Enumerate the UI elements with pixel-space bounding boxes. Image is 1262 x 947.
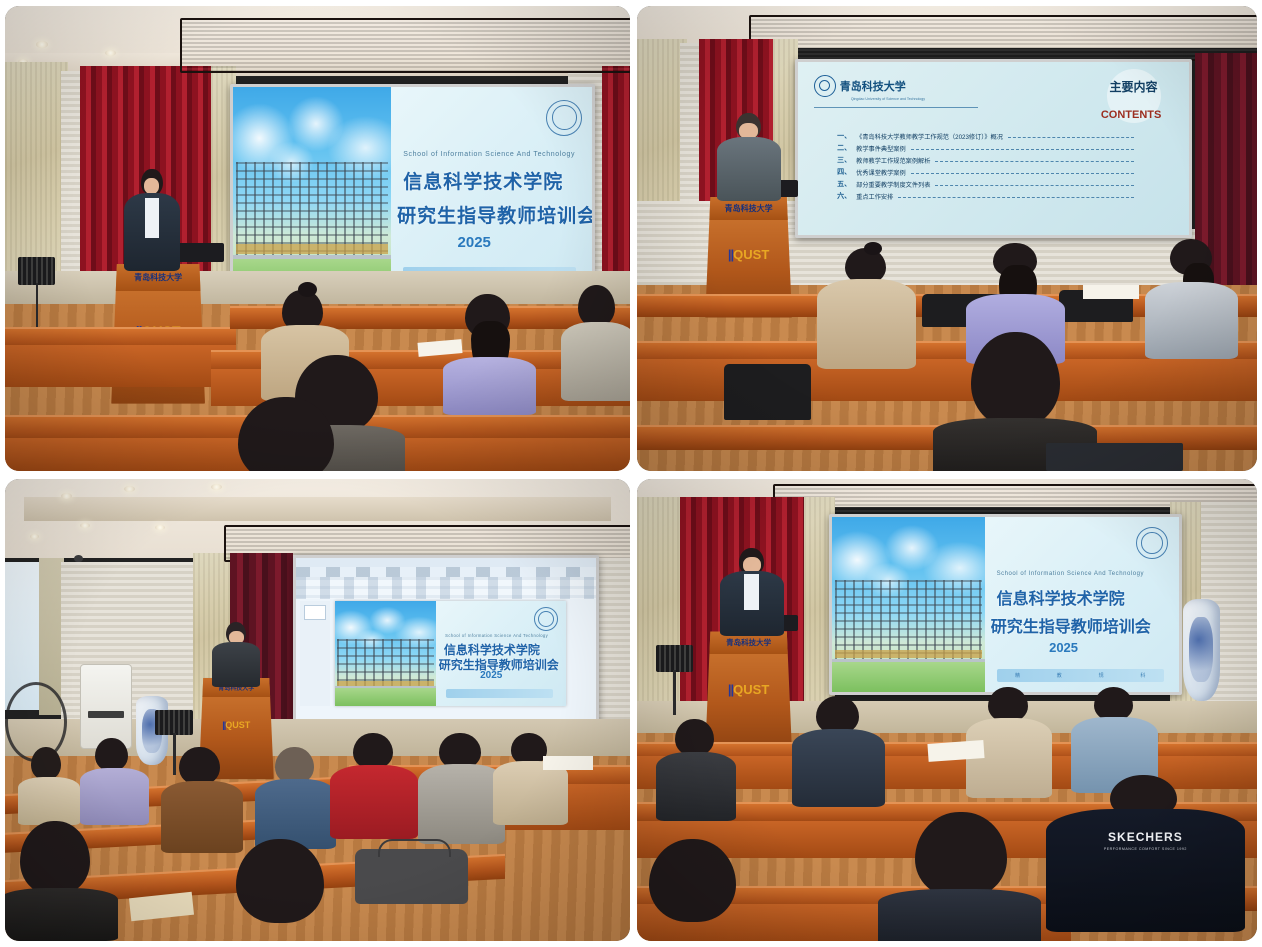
porcelain-vase — [1183, 599, 1220, 701]
torso-blue-jacket — [255, 779, 336, 848]
torso — [443, 357, 537, 415]
audience-person-front — [637, 839, 761, 941]
item-number: 五、 — [837, 179, 851, 189]
campus-building — [236, 162, 388, 261]
speaker-shirt — [744, 574, 759, 610]
title-slide-body: School of Information Science And Techno… — [436, 601, 565, 705]
stage-curtain-right — [602, 66, 630, 299]
item-text: 教师教学工作规范案例解析 — [856, 156, 930, 165]
head — [95, 738, 128, 771]
head — [511, 733, 547, 764]
security-camera-icon — [74, 555, 83, 562]
speaker-shirt — [145, 198, 159, 238]
item-text: 优秀课堂教学案例 — [856, 168, 906, 177]
audience-person-front — [5, 821, 111, 941]
audience-person-front — [885, 812, 1034, 941]
shoulder-bag — [355, 849, 468, 904]
speaker-person — [715, 113, 783, 201]
photo-collage: School of Information Science And Techno… — [0, 0, 1262, 947]
projection-screen-2: 青岛科技大学 Qingdao University of Science and… — [795, 59, 1192, 237]
torso — [493, 761, 568, 826]
item-text: 《青岛科技大学教师教学工作规范（2023修订）》概况 — [856, 132, 1003, 141]
title-slide-body: School of Information Science And Techno… — [985, 517, 1179, 693]
speaker-torso — [720, 571, 784, 636]
handout-paper — [543, 756, 593, 770]
head — [915, 812, 1007, 898]
powerpoint-window: School of Information Science And Techno… — [296, 558, 596, 738]
contents-item: 五、 部分重要教学制度文件列表 — [837, 179, 1134, 189]
audience-person — [330, 733, 418, 839]
logo-underline — [814, 107, 978, 108]
audience-person-skechers: SKECHERS PERFORMANCE COMFORT SINCE 1992 — [1046, 775, 1244, 932]
jacket-tagline-text: PERFORMANCE COMFORT SINCE 1992 — [1104, 847, 1187, 851]
torso-red-sweatshirt — [330, 765, 418, 839]
title-slide: School of Information Science And Techno… — [832, 517, 1179, 693]
head — [675, 719, 714, 756]
contents-title-cn: 主要内容 — [1109, 78, 1157, 95]
photo-panel-bottom-left[interactable]: School of Information Science And Techno… — [5, 479, 630, 941]
photo-panel-top-left[interactable]: School of Information Science And Techno… — [5, 6, 630, 471]
music-stand — [656, 645, 693, 714]
campus-lawn — [335, 688, 437, 706]
torso — [561, 322, 630, 401]
contents-slide: 青岛科技大学 Qingdao University of Science and… — [798, 62, 1189, 234]
qust-seal-icon — [1136, 527, 1168, 559]
downlight-icon — [61, 493, 72, 499]
footer-item: 规 — [1099, 672, 1104, 679]
music-stand — [18, 257, 56, 331]
ppt-ribbon[interactable] — [296, 577, 596, 599]
slide-title-line1: 信息科学技术学院 — [997, 585, 1125, 609]
item-number: 三、 — [837, 155, 851, 165]
qust-logo-letters: QUST — [225, 720, 250, 730]
audience-person — [443, 294, 537, 415]
head — [649, 839, 736, 922]
downlight-icon — [80, 523, 90, 528]
downlight-icon — [124, 486, 135, 492]
logo-name-cn: 青岛科技大学 — [840, 78, 906, 94]
audience-person — [493, 733, 568, 825]
qust-seal-icon — [534, 607, 558, 631]
downlight-icon — [211, 484, 222, 490]
slide-english-line: School of Information Science And Techno… — [403, 151, 575, 158]
projection-screen-1: School of Information Science And Techno… — [230, 84, 595, 297]
head — [31, 747, 61, 780]
contents-list: 一、 《青岛科技大学教师教学工作规范（2023修订）》概况 二、 教学事件典型案… — [837, 131, 1134, 203]
qust-logo-letters: QUST — [733, 247, 769, 262]
head — [275, 747, 314, 784]
logo-name-en: Qingdao University of Science and Techno… — [851, 97, 925, 101]
projector-valance — [180, 18, 630, 73]
slide-thumbnail[interactable] — [304, 605, 326, 620]
qust-logo-block: 青岛科技大学 — [814, 75, 906, 97]
slide-english-line: School of Information Science And Techno… — [445, 633, 548, 638]
ceiling-coffer — [24, 497, 612, 520]
item-number: 四、 — [837, 167, 851, 177]
audience-person — [18, 747, 81, 826]
slide-title-line2: 研究生指导教师培训会 — [397, 201, 592, 228]
contents-title-en: CONTENTS — [1101, 109, 1162, 121]
item-text: 教学事件典型案例 — [856, 144, 906, 153]
slide-english-line: School of Information Science And Techno… — [997, 571, 1144, 577]
ppt-slide-canvas[interactable]: School of Information Science And Techno… — [335, 601, 566, 705]
torso — [817, 279, 916, 368]
footer-item: 精 — [1015, 672, 1020, 679]
photo-panel-top-right[interactable]: 青岛科技大学 Qingdao University of Science and… — [637, 6, 1257, 471]
campus-photo — [832, 517, 985, 693]
contents-item: 四、 优秀课堂教学案例 — [837, 167, 1134, 177]
item-text: 重点工作安排 — [856, 192, 893, 201]
ppt-slide-thumbnails[interactable] — [300, 601, 330, 705]
audience-person — [656, 719, 737, 821]
qust-seal-icon — [546, 100, 582, 136]
jacket-brand-text: SKECHERS — [1108, 830, 1183, 844]
slide-footer-bar — [446, 689, 552, 697]
lecture-hall-scene-4: School of Information Science And Techno… — [637, 479, 1257, 941]
podium-sign-text: 青岛科技大学 — [725, 203, 773, 214]
head — [179, 747, 220, 785]
lecture-hall-scene-3: School of Information Science And Techno… — [5, 479, 630, 941]
speaker-torso — [124, 193, 180, 271]
torso — [656, 752, 737, 821]
speaker-torso — [212, 642, 260, 687]
photo-panel-bottom-right[interactable]: School of Information Science And Techno… — [637, 479, 1257, 941]
audience-person-front — [211, 839, 349, 941]
audience-person-front — [211, 397, 361, 471]
torso — [80, 768, 149, 826]
qust-logo-letters: QUST — [733, 682, 769, 697]
campus-photo — [233, 87, 391, 294]
audience-person — [80, 738, 149, 826]
head — [578, 285, 616, 327]
speaker-torso — [717, 137, 781, 201]
wall-stone-panel — [5, 62, 68, 276]
bench-face — [5, 345, 236, 387]
audience-person — [1145, 239, 1238, 360]
audience-person — [255, 747, 336, 849]
lecture-hall-scene-1: School of Information Science And Techno… — [5, 6, 630, 471]
audience-person — [161, 747, 242, 853]
audience-person — [817, 248, 916, 369]
head — [1094, 687, 1134, 721]
title-slide-body: School of Information Science And Techno… — [391, 87, 592, 294]
campus-photo — [335, 601, 437, 705]
slide-year: 2025 — [1049, 640, 1078, 655]
contents-item: 六、 重点工作安排 — [837, 191, 1134, 201]
projection-screen-4: School of Information Science And Techno… — [829, 514, 1182, 696]
title-slide: School of Information Science And Techno… — [335, 601, 566, 705]
campus-building — [835, 580, 982, 664]
slide-footer-bar: 精 教 规 科 — [997, 669, 1164, 681]
item-number: 二、 — [837, 143, 851, 153]
slide-year: 2025 — [480, 670, 502, 681]
podium-sign-text: 青岛科技大学 — [134, 272, 182, 283]
downlight-icon — [36, 41, 48, 48]
title-slide: School of Information Science And Techno… — [233, 87, 592, 294]
torso — [878, 889, 1042, 941]
contents-item: 二、 教学事件典型案例 — [837, 143, 1134, 153]
contents-item: 三、 教师教学工作规范案例解析 — [837, 155, 1134, 165]
slide-title-line2: 研究生指导教师培训会 — [991, 613, 1151, 637]
audience-person — [792, 696, 885, 807]
campus-building — [337, 639, 435, 689]
head — [816, 696, 859, 734]
campus-lawn — [832, 662, 985, 692]
ppt-titlebar — [296, 558, 596, 567]
contents-item: 一、 《青岛科技大学教师教学工作规范（2023修订）》概况 — [837, 131, 1134, 141]
laptop-front — [1046, 443, 1182, 471]
torso — [792, 729, 885, 807]
slide-title-line1: 信息科学技术学院 — [403, 167, 563, 194]
item-text: 部分重要教学制度文件列表 — [856, 180, 930, 189]
head — [20, 821, 90, 895]
qust-logo: ||QUST — [728, 682, 769, 697]
qust-logo: ||QUST — [222, 720, 250, 730]
footer-item: 科 — [1140, 672, 1145, 679]
lecture-hall-scene-2: 青岛科技大学 Qingdao University of Science and… — [637, 6, 1257, 471]
projector-valance — [749, 15, 1257, 61]
air-conditioner — [80, 664, 132, 749]
slide-year: 2025 — [458, 234, 491, 251]
speaker-person — [718, 548, 786, 636]
skechers-jacket: SKECHERS PERFORMANCE COMFORT SINCE 1992 — [1046, 809, 1244, 932]
head — [971, 332, 1060, 427]
qust-logo: ||QUST — [728, 247, 769, 262]
podium-sign-text: 青岛科技大学 — [726, 637, 771, 648]
item-number: 六、 — [837, 191, 851, 201]
head — [236, 839, 324, 923]
torso — [18, 777, 81, 826]
head — [353, 733, 393, 769]
speaker-person — [211, 622, 261, 687]
head — [238, 397, 334, 471]
footer-item: 教 — [1057, 672, 1062, 679]
speaker-person — [121, 169, 184, 271]
ppt-ribbon-tabs[interactable] — [296, 567, 596, 577]
chair-back — [724, 364, 811, 420]
projection-screen-3: School of Information Science And Techno… — [293, 555, 599, 741]
audience-person — [561, 285, 630, 401]
handout-paper — [1083, 285, 1139, 299]
torso — [5, 888, 118, 941]
item-number: 一、 — [837, 131, 851, 141]
torso — [1145, 282, 1238, 359]
qust-seal-icon — [814, 75, 836, 97]
